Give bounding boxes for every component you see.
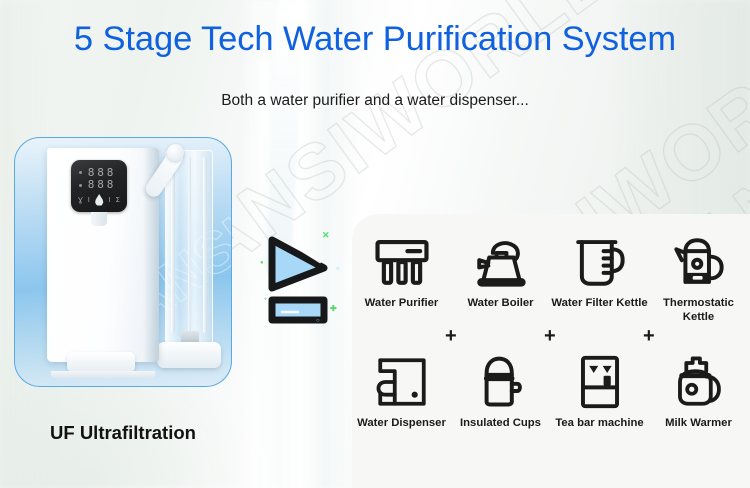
feature-label: Milk Warmer	[649, 417, 748, 431]
feature-cell-water-boiler[interactable]: Water Boiler	[451, 228, 550, 311]
dispenser-spout	[91, 212, 107, 226]
indicator-dot	[79, 171, 82, 174]
tea-bar-machine-icon	[550, 348, 649, 416]
feature-label: Water Filter Kettle	[550, 297, 649, 311]
kettle-icon	[451, 228, 550, 296]
tank-rail	[171, 157, 175, 333]
sparkle-icon: ✚	[330, 304, 337, 313]
filter-arm-knob	[167, 144, 184, 161]
feature-label: Water Boiler	[451, 297, 550, 311]
water-drop-icon[interactable]	[95, 194, 104, 206]
display-row-top: 8 8 8	[87, 168, 114, 178]
tank-rail	[188, 157, 191, 333]
sparkle-icon: ○	[316, 318, 320, 324]
control-panel-display: 8 8 8 8 8 8 Ɣ I I Σ	[71, 160, 127, 212]
seven-segment-digit: 8	[106, 180, 114, 190]
touch-button-bar2[interactable]: I	[109, 196, 111, 204]
feature-label: Water Dispenser	[352, 417, 451, 431]
tank-rail	[203, 157, 207, 333]
greater-than-equal-logo: ✕ ○ ● ✚ ○ ●	[258, 226, 342, 330]
touch-button-bar1[interactable]: I	[88, 196, 90, 204]
sparkle-icon: ●	[264, 296, 267, 302]
purifier-base	[51, 371, 155, 378]
touch-button-right[interactable]: Σ	[116, 196, 120, 204]
display-row-bottom: 8 8 8	[87, 180, 114, 190]
insulated-cup-icon	[451, 348, 550, 416]
seven-segment-digit: 8	[106, 168, 114, 178]
electric-kettle-icon	[649, 228, 748, 296]
seven-segment-digit: 8	[87, 180, 95, 190]
measuring-jug-icon	[550, 228, 649, 296]
feature-label: Insulated Cups	[451, 417, 550, 431]
feature-cell-water-dispenser[interactable]: Water Dispenser	[352, 348, 451, 431]
sparkle-icon: ✕	[322, 230, 330, 241]
plus-separator: +	[544, 326, 556, 346]
milk-warmer-icon	[649, 348, 748, 416]
water-tank	[165, 150, 213, 350]
feature-label: Water Purifier	[352, 297, 451, 311]
plus-separator: +	[445, 326, 457, 346]
feature-cell-water-purifier[interactable]: Water Purifier	[352, 228, 451, 311]
feature-cell-milk-warmer[interactable]: Milk Warmer	[649, 348, 748, 431]
touch-button-row: Ɣ I I Σ	[78, 194, 120, 206]
feature-icon-panel: Water Purifier Water Boiler	[352, 214, 750, 488]
seven-segment-digit: 8	[87, 168, 95, 178]
seven-segment-digit: 8	[97, 168, 105, 178]
feature-cell-water-filter-kettle[interactable]: Water Filter Kettle	[550, 228, 649, 311]
promo-banner: OLANSIWORLD OLANSIWORLD OLANSIWORLD OLAN…	[0, 0, 750, 488]
product-caption: UF Ultrafiltration	[14, 422, 232, 444]
drip-tray	[67, 352, 135, 372]
sparkle-icon: ●	[260, 260, 264, 266]
feature-label: Thermostatic Kettle	[649, 297, 748, 324]
indicator-dot	[79, 184, 82, 187]
feature-cell-thermostatic-kettle[interactable]: Thermostatic Kettle	[649, 228, 748, 324]
page-subtitle: Both a water purifier and a water dispen…	[0, 92, 750, 110]
page-title: 5 Stage Tech Water Purification System	[0, 20, 750, 59]
plus-separator: +	[643, 326, 655, 346]
tank-base	[157, 342, 221, 368]
feature-cell-tea-bar-machine[interactable]: Tea bar machine	[550, 348, 649, 431]
water-dispenser-icon	[352, 348, 451, 416]
water-purifier-icon	[352, 228, 451, 296]
feature-icon-grid: Water Purifier Water Boiler	[352, 214, 750, 488]
sparkle-icon: ○	[336, 266, 340, 272]
product-image-card: OLANSIWORLD 8 8 8 8 8 8 Ɣ	[14, 137, 232, 387]
seven-segment-digit: 8	[97, 180, 105, 190]
touch-button-left[interactable]: Ɣ	[78, 196, 83, 204]
feature-label: Tea bar machine	[550, 417, 649, 431]
feature-cell-insulated-cups[interactable]: Insulated Cups	[451, 348, 550, 431]
